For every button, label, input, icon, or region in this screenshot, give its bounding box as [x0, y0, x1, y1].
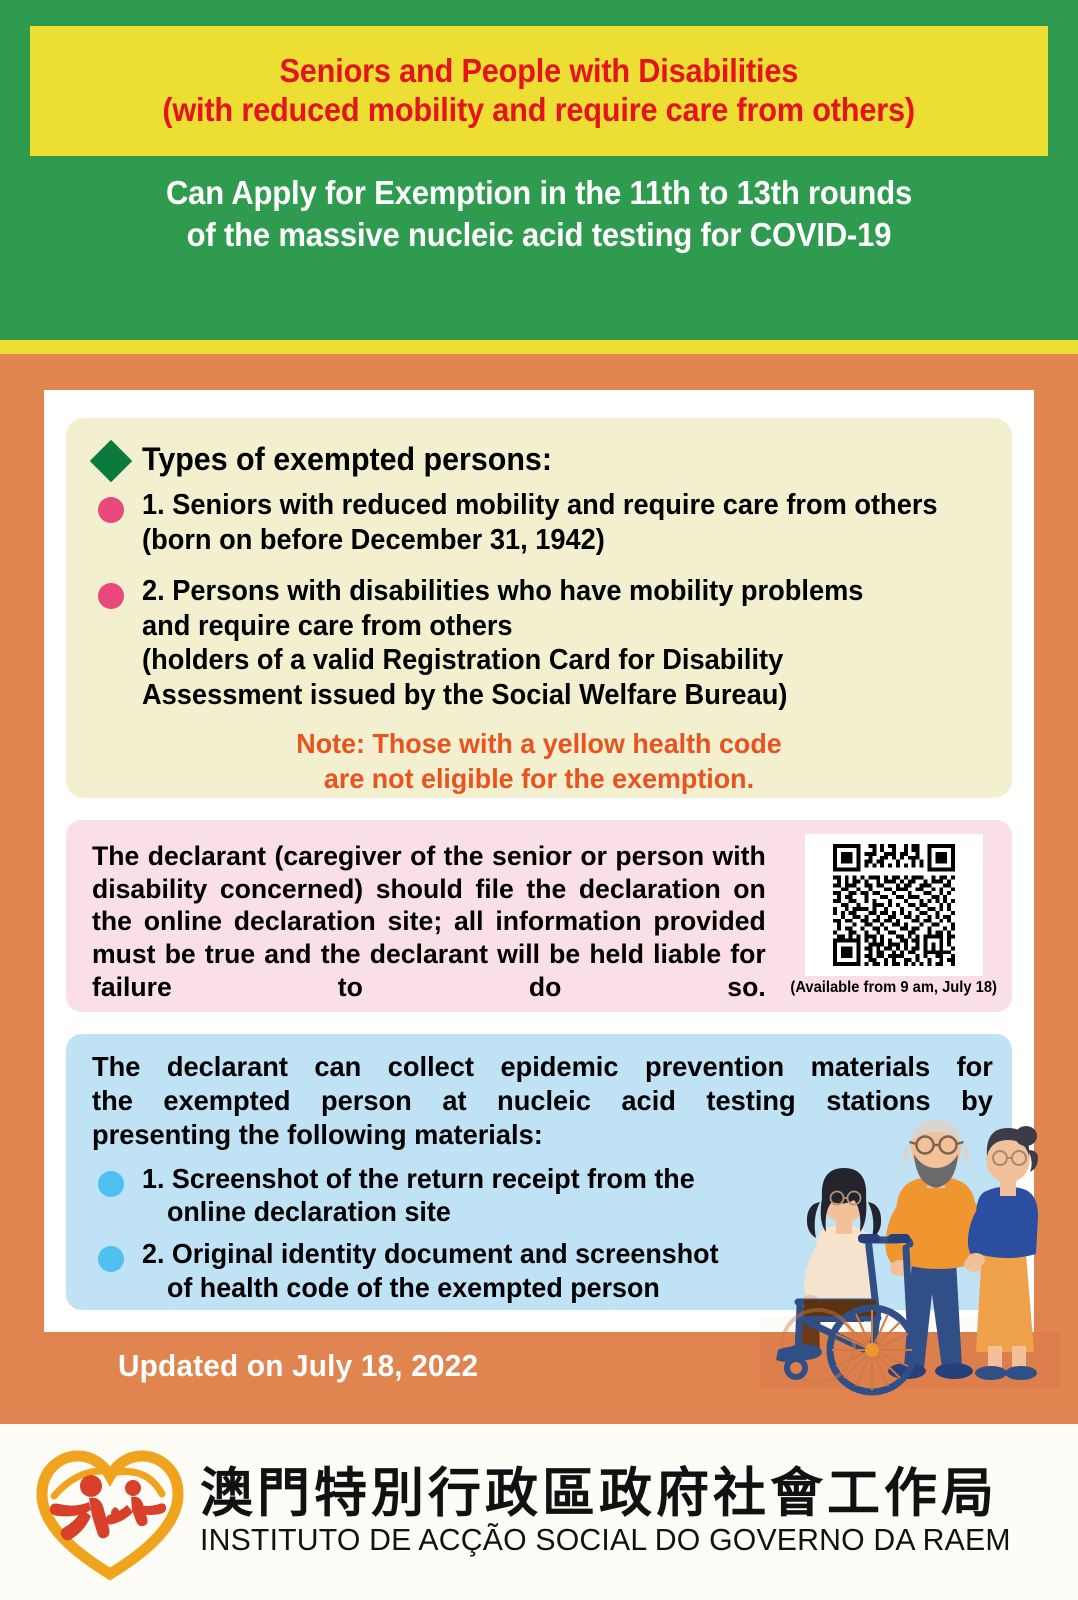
- poster-title-line2: (with reduced mobility and require care …: [163, 91, 916, 130]
- materials-item-1-line2: online declaration site: [142, 1195, 695, 1229]
- materials-item-2: 2. Original identity document and screen…: [142, 1237, 719, 1304]
- yellow-health-code-note: Note: Those with a yellow health code ar…: [106, 727, 972, 796]
- poster-subtitle: Can Apply for Exemption in the 11th to 1…: [30, 172, 1048, 256]
- exempted-item-2-line2: and require care from others: [142, 609, 863, 644]
- exempted-persons-heading-row: Types of exempted persons:: [88, 436, 990, 478]
- note-line2: are not eligible for the exemption.: [106, 762, 972, 797]
- header-banner: Seniors and People with Disabilities (wi…: [0, 0, 1078, 340]
- declaration-text: The declarant (caregiver of the senior o…: [92, 834, 783, 1004]
- poster-subtitle-line2: of the massive nucleic acid testing for …: [61, 214, 1018, 256]
- pink-circle-bullet-icon: [98, 497, 124, 523]
- blue-circle-bullet-icon: [98, 1246, 124, 1272]
- heart-with-two-figures-logo: [34, 1442, 186, 1582]
- materials-item-2-line2: of health code of the exempted person: [142, 1271, 719, 1305]
- list-item: 1. Screenshot of the return receipt from…: [92, 1162, 852, 1229]
- list-item: 2. Original identity document and screen…: [92, 1237, 852, 1304]
- organisation-name-portuguese: INSTITUTO DE ACÇÃO SOCIAL DO GOVERNO DA …: [200, 1523, 1011, 1558]
- online-declaration-site-qr-code[interactable]: [805, 834, 983, 976]
- organisation-name: 澳門特別行政區政府社會工作局 INSTITUTO DE ACÇÃO SOCIAL…: [200, 1466, 1019, 1558]
- qr-availability-caption: (Available from 9 am, July 18): [791, 979, 998, 997]
- elderly-woman: [967, 1126, 1038, 1380]
- poster-title-line1: Seniors and People with Disabilities: [280, 52, 799, 91]
- qr-code-area: (Available from 9 am, July 18): [794, 834, 994, 1004]
- materials-item-2-line1: 2. Original identity document and screen…: [142, 1238, 719, 1269]
- list-item: 1. Seniors with reduced mobility and req…: [88, 488, 990, 558]
- pink-circle-bullet-icon: [98, 583, 124, 609]
- organisation-name-chinese: 澳門特別行政區政府社會工作局: [200, 1466, 1019, 1521]
- list-item: 2. Persons with disabilities who have mo…: [88, 574, 990, 713]
- exempted-item-2-line3: (holders of a valid Registration Card fo…: [142, 643, 863, 678]
- footer-logo-bar: 澳門特別行政區政府社會工作局 INSTITUTO DE ACÇÃO SOCIAL…: [0, 1424, 1078, 1600]
- declaration-box: The declarant (caregiver of the senior o…: [66, 820, 1012, 1012]
- blue-circle-bullet-icon: [98, 1171, 124, 1197]
- materials-list: 1. Screenshot of the return receipt from…: [92, 1162, 852, 1304]
- materials-lead-line1: The declarant can collect epidemic preve…: [92, 1050, 993, 1084]
- poster-root: Seniors and People with Disabilities (wi…: [0, 0, 1078, 1600]
- poster-subtitle-line1: Can Apply for Exemption in the 11th to 1…: [61, 172, 1018, 214]
- yellow-divider-rule: [0, 340, 1078, 354]
- exempted-item-2-line1: 2. Persons with disabilities who have mo…: [142, 575, 863, 607]
- exempted-item-1: 1. Seniors with reduced mobility and req…: [142, 488, 938, 558]
- title-box: Seniors and People with Disabilities (wi…: [30, 26, 1048, 156]
- exempted-item-1-line2: (born on before December 31, 1942): [142, 523, 938, 558]
- note-line1: Note: Those with a yellow health code: [106, 727, 972, 762]
- exempted-item-2: 2. Persons with disabilities who have mo…: [142, 574, 863, 713]
- materials-item-1: 1. Screenshot of the return receipt from…: [142, 1162, 695, 1229]
- exempted-item-1-line1: 1. Seniors with reduced mobility and req…: [142, 489, 938, 521]
- exempted-persons-box: Types of exempted persons: 1. Seniors wi…: [66, 418, 1012, 798]
- materials-item-1-line1: 1. Screenshot of the return receipt from…: [142, 1163, 695, 1194]
- exempted-persons-heading: Types of exempted persons:: [142, 436, 552, 478]
- last-updated-text: Updated on July 18, 2022: [118, 1348, 478, 1384]
- diamond-bullet-icon: [90, 440, 132, 482]
- exempted-item-2-line4: Assessment issued by the Social Welfare …: [142, 678, 863, 713]
- caregivers-and-wheelchair-user-illustration: [760, 1110, 1060, 1400]
